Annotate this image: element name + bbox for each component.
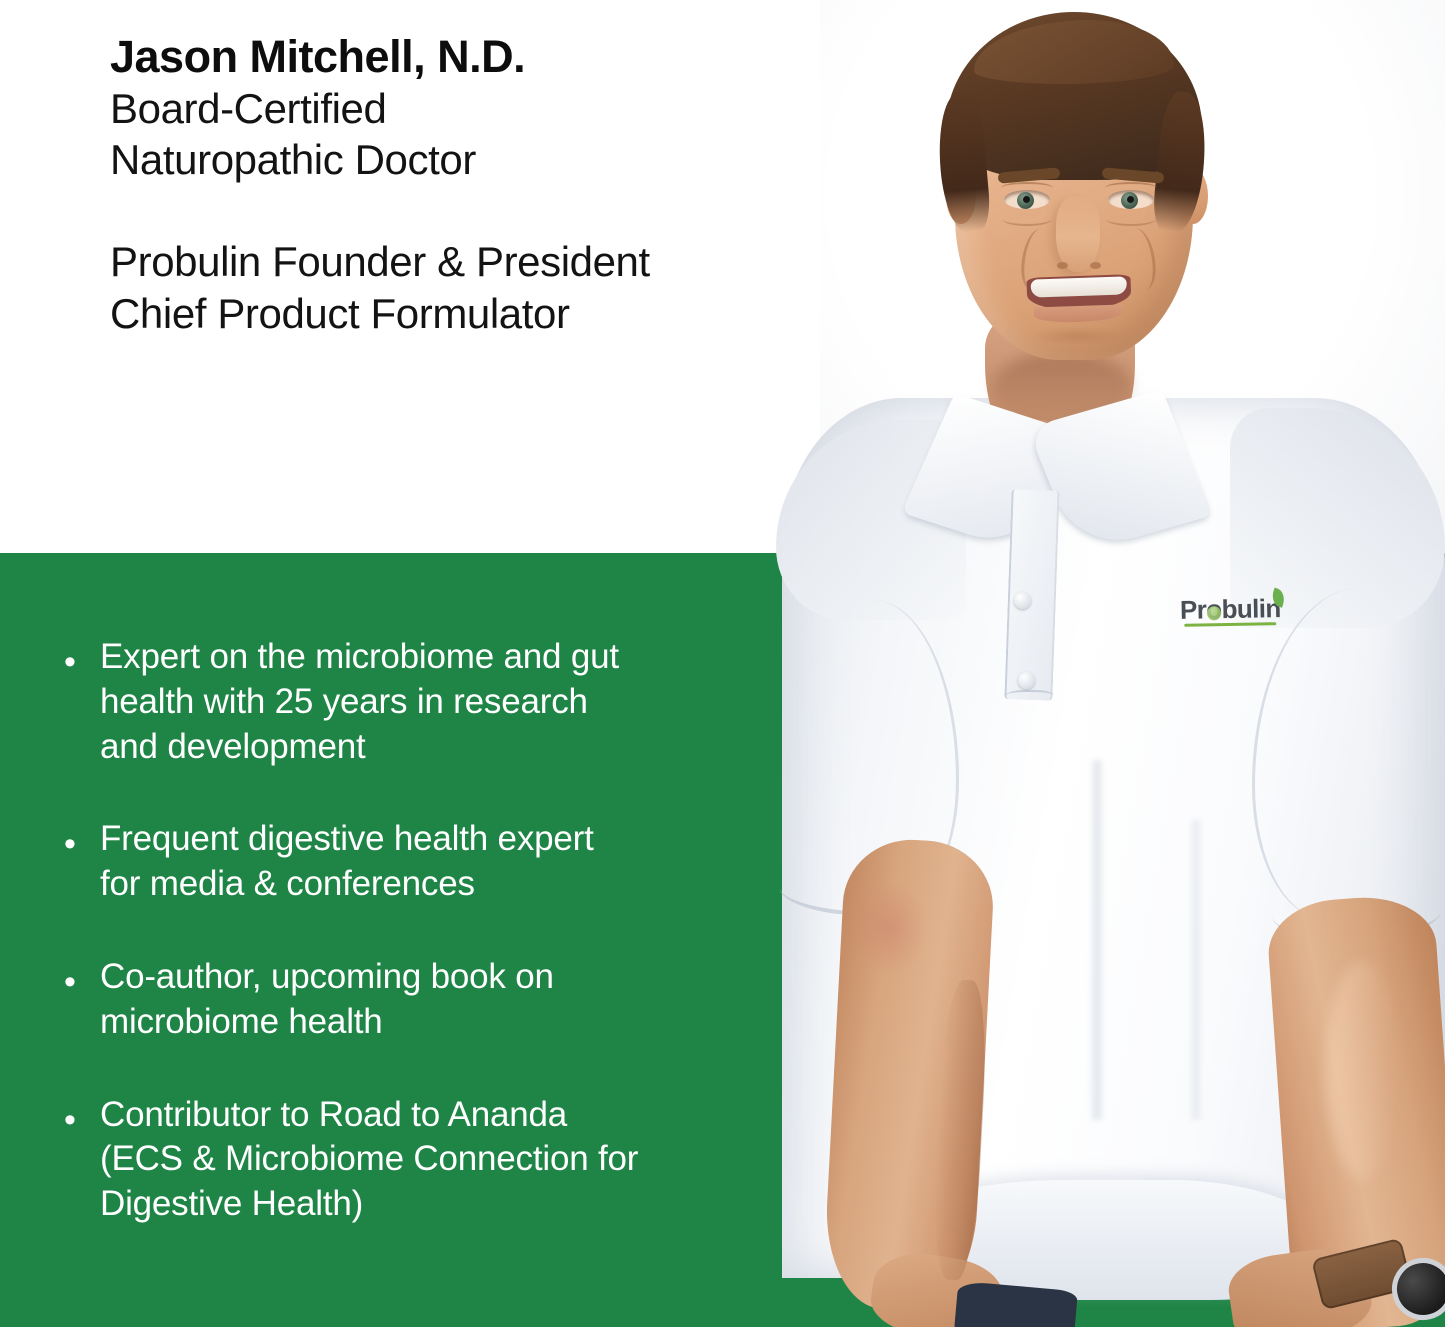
under-eye-right bbox=[1106, 212, 1156, 226]
shirt-button-bottom bbox=[1018, 672, 1035, 689]
bullet-icon: • bbox=[64, 955, 100, 999]
chin-shadow bbox=[1032, 326, 1124, 346]
eye-right bbox=[1108, 190, 1154, 209]
bullet-icon: • bbox=[64, 1093, 100, 1137]
credential-line-1: Board-Certified bbox=[110, 83, 900, 134]
pupil-left bbox=[1023, 196, 1030, 203]
nostril-left bbox=[1057, 262, 1068, 269]
credential-line-2: Naturopathic Doctor bbox=[110, 134, 900, 185]
bullet-icon: • bbox=[64, 635, 100, 679]
person-name: Jason Mitchell, N.D. bbox=[110, 30, 900, 83]
list-item: • Frequent digestive health expert for m… bbox=[64, 817, 764, 907]
nostril-right bbox=[1090, 262, 1101, 269]
probulin-logo-text: Probulin bbox=[1180, 595, 1281, 623]
header-spacer bbox=[110, 186, 900, 236]
green-left-edge bbox=[0, 553, 46, 1327]
list-item: • Expert on the microbiome and gut healt… bbox=[64, 635, 764, 769]
pupil-right bbox=[1127, 196, 1134, 203]
list-item-text: Co-author, upcoming book on microbiome h… bbox=[100, 955, 764, 1045]
list-item-text: Contributor to Road to Ananda (ECS & Mic… bbox=[100, 1093, 764, 1227]
list-item: • Contributor to Road to Ananda (ECS & M… bbox=[64, 1093, 764, 1227]
header-text-block: Jason Mitchell, N.D. Board-Certified Nat… bbox=[110, 30, 900, 341]
eye-left bbox=[1004, 190, 1050, 209]
placket-seam bbox=[1006, 690, 1054, 704]
highlights-list: • Expert on the microbiome and gut healt… bbox=[64, 635, 764, 1227]
shirt-button-top bbox=[1014, 592, 1031, 609]
profile-card: Probulin Jason Mitchell, N.D. Board-Cert… bbox=[0, 0, 1445, 1327]
title-line-2: Chief Product Formulator bbox=[110, 288, 900, 341]
list-item: • Co-author, upcoming book on microbiome… bbox=[64, 955, 764, 1045]
shirt-fold-side bbox=[1190, 820, 1202, 1120]
teeth bbox=[1031, 276, 1128, 297]
arm-highlight-right bbox=[1326, 960, 1398, 1180]
nose bbox=[1056, 196, 1100, 272]
shirt-placket bbox=[1004, 489, 1059, 701]
title-line-1: Probulin Founder & President bbox=[110, 236, 900, 289]
under-eye-left bbox=[1002, 212, 1052, 226]
probulin-chest-logo: Probulin bbox=[1180, 595, 1281, 623]
shirt-fold-center bbox=[1090, 760, 1104, 1120]
bullet-icon: • bbox=[64, 817, 100, 861]
list-item-text: Frequent digestive health expert for med… bbox=[100, 817, 764, 907]
list-item-text: Expert on the microbiome and gut health … bbox=[100, 635, 764, 769]
elbow-highlight-left bbox=[852, 880, 928, 976]
